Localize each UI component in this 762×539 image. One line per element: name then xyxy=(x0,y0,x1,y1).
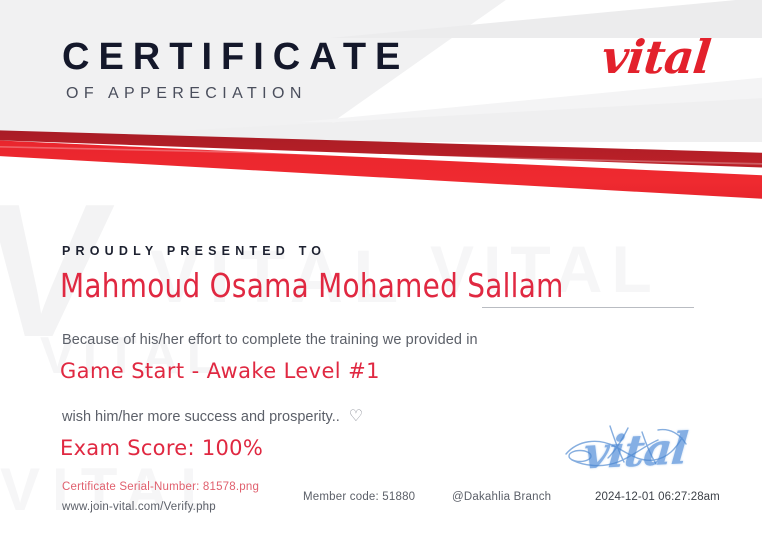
branch-name: @Dakahlia Branch xyxy=(452,491,551,503)
course-name: Game Start - Awake Level #1 xyxy=(60,359,380,383)
certificate-footer: Certificate Serial-Number: 81578.png www… xyxy=(0,477,762,539)
serial-number: Certificate Serial-Number: 81578.png xyxy=(62,481,259,493)
heart-icon: ♡ xyxy=(349,409,363,425)
certificate-title: CERTIFICATE xyxy=(62,38,409,76)
exam-score: Exam Score: 100% xyxy=(60,436,263,460)
red-ribbon-highlight xyxy=(0,139,762,195)
recipient-name-rule xyxy=(482,307,694,308)
issued-timestamp: 2024-12-01 06:27:28am xyxy=(595,491,720,503)
vital-logo: vital xyxy=(600,34,713,80)
red-ribbon-dark-blade xyxy=(0,130,762,192)
reason-text: Because of his/her effort to complete th… xyxy=(62,332,478,348)
certificate-header: CERTIFICATE OF APPERECIATION vital xyxy=(0,0,762,120)
certificate-subtitle: OF APPERECIATION xyxy=(66,86,409,102)
member-code: Member code: 51880 xyxy=(303,491,415,503)
recipient-name: Mahmoud Osama Mohamed Sallam xyxy=(60,266,564,305)
title-block: CERTIFICATE OF APPERECIATION xyxy=(62,38,409,102)
wish-text-row: wish him/her more success and prosperity… xyxy=(62,409,363,425)
red-ribbon-bright-blade xyxy=(0,140,762,210)
certificate-document: V VITAL VITAL VITAL VITAL CERTIFICATE OF… xyxy=(0,0,762,539)
presented-to-label: PROUDLY PRESENTED TO xyxy=(62,244,326,258)
verify-url[interactable]: www.join-vital.com/Verify.php xyxy=(62,501,216,513)
wish-text: wish him/her more success and prosperity… xyxy=(62,409,340,425)
